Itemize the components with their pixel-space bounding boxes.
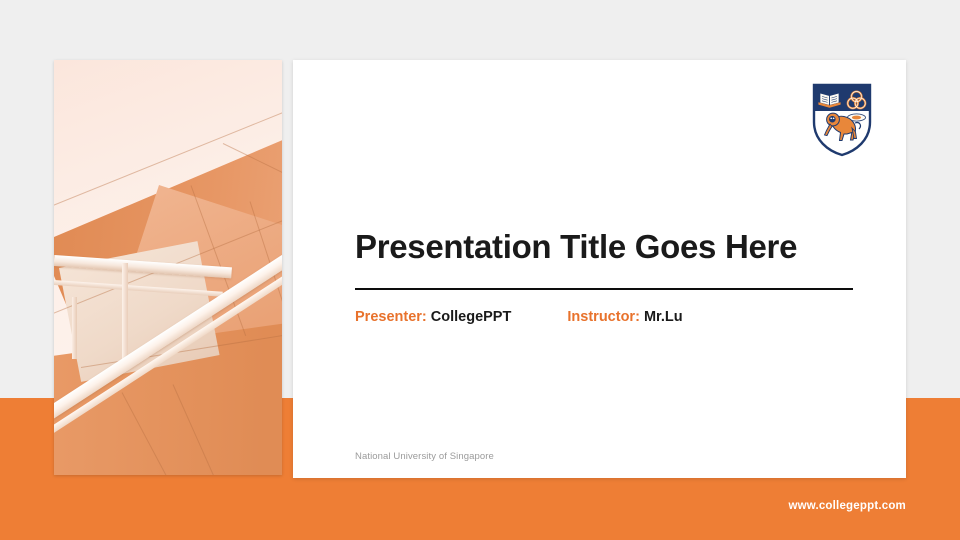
organization-name: National University of Singapore [355, 451, 494, 462]
title-divider [355, 288, 853, 290]
cover-photo [54, 60, 282, 475]
presenter-label: Presenter: [355, 309, 427, 325]
nus-crest-logo [811, 82, 873, 158]
instructor-label: Instructor: [567, 309, 640, 325]
photo-railing-post [122, 263, 128, 363]
instructor-name: Mr.Lu [644, 309, 683, 325]
presentation-meta: Presenter: CollegePPT Instructor: Mr.Lu [355, 309, 875, 325]
presenter-name: CollegePPT [431, 309, 512, 325]
presentation-slide: www.collegeppt.com [0, 0, 960, 540]
watermark-url: www.collegeppt.com [788, 500, 906, 512]
page-title: Presentation Title Goes Here [355, 228, 875, 266]
content-card: Presentation Title Goes Here Presenter: … [293, 60, 906, 478]
cover-photo-image [54, 60, 282, 475]
photo-railing-post [72, 297, 77, 359]
